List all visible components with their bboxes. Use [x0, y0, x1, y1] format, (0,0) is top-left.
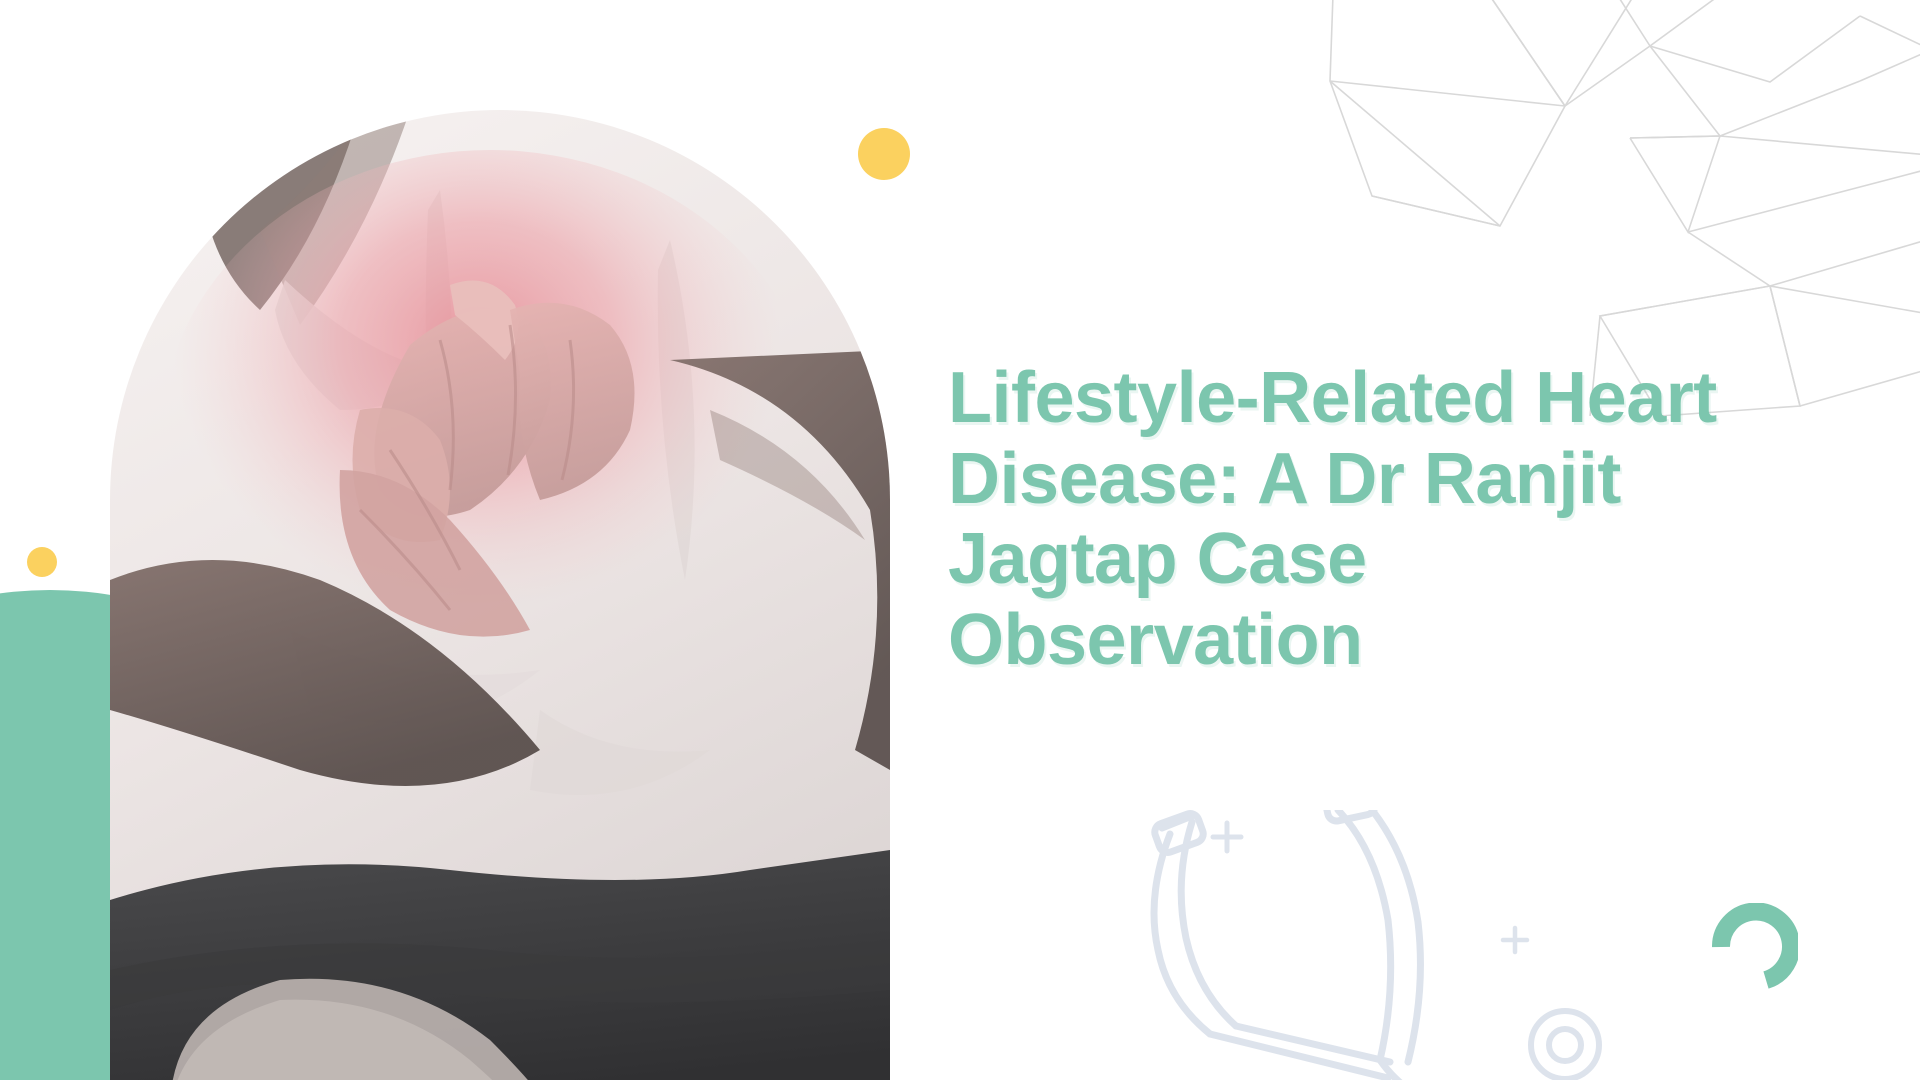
- green-arc-decoration: [1712, 903, 1798, 989]
- poster-canvas: Lifestyle-Related Heart Disease: A Dr Ra…: [0, 0, 1920, 1080]
- hero-photo-illustration: [110, 110, 890, 1080]
- polygon-mesh-decoration: [1300, 0, 1920, 416]
- page-title: Lifestyle-Related Heart Disease: A Dr Ra…: [948, 358, 1788, 681]
- stethoscope-icon: [1140, 810, 1540, 1080]
- hero-photo: [110, 110, 890, 1080]
- yellow-dot-left-decoration: [27, 547, 57, 577]
- title-block: Lifestyle-Related Heart Disease: A Dr Ra…: [948, 358, 1788, 681]
